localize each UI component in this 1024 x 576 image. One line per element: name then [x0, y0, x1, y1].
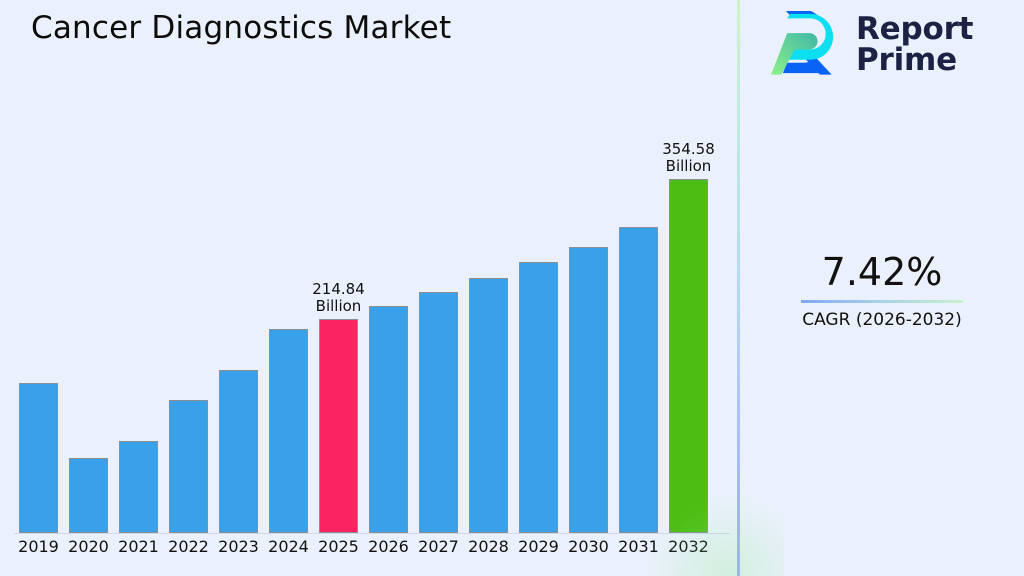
side-panel: Report Prime 7.42% CAGR (2026-2032): [740, 0, 1024, 576]
bar-value-label-2025: 214.84Billion: [312, 281, 365, 315]
brand-logo-line2: Prime: [856, 45, 973, 76]
bar-2025[interactable]: [319, 319, 358, 533]
bar-2029[interactable]: [519, 262, 558, 533]
report-prime-logo-icon: [768, 8, 842, 82]
x-tick-2030: 2030: [561, 537, 616, 556]
bar-2028[interactable]: [469, 278, 508, 533]
bar-2030[interactable]: [569, 247, 608, 533]
bar-2019[interactable]: [19, 383, 58, 533]
brand-logo-line1: Report: [856, 14, 973, 45]
x-tick-2019: 2019: [11, 537, 66, 556]
bar-2032[interactable]: [669, 179, 708, 533]
page-title: Cancer Diagnostics Market: [31, 10, 451, 46]
bar-value-label-amount: 354.58: [662, 141, 715, 158]
bar-2021[interactable]: [119, 441, 158, 533]
x-tick-2021: 2021: [111, 537, 166, 556]
x-tick-2025: 2025: [311, 537, 366, 556]
bar-2026[interactable]: [369, 306, 408, 533]
x-tick-2028: 2028: [461, 537, 516, 556]
cagr-block: 7.42% CAGR (2026-2032): [740, 250, 1024, 330]
x-tick-2020: 2020: [61, 537, 116, 556]
chart-panel: Cancer Diagnostics Market 214.84Billion3…: [0, 0, 738, 576]
bar-2023[interactable]: [219, 370, 258, 533]
brand-logo: Report Prime: [768, 8, 973, 82]
bar-2024[interactable]: [269, 329, 308, 533]
bar-value-label-unit: Billion: [662, 158, 715, 175]
bar-2027[interactable]: [419, 292, 458, 533]
cagr-value: 7.42%: [740, 250, 1024, 294]
chart-page: Cancer Diagnostics Market 214.84Billion3…: [0, 0, 1024, 576]
x-tick-2024: 2024: [261, 537, 316, 556]
bar-chart-plot-area: 214.84Billion354.58Billion: [0, 120, 730, 534]
brand-logo-text: Report Prime: [856, 14, 973, 76]
bar-2022[interactable]: [169, 400, 208, 533]
x-tick-2023: 2023: [211, 537, 266, 556]
x-tick-2031: 2031: [611, 537, 666, 556]
cagr-divider: [801, 300, 963, 303]
x-tick-2029: 2029: [511, 537, 566, 556]
x-tick-2022: 2022: [161, 537, 216, 556]
x-tick-2032: 2032: [661, 537, 716, 556]
x-tick-2026: 2026: [361, 537, 416, 556]
x-axis-tick-labels: 2019202020212022202320242025202620272028…: [0, 534, 730, 564]
bar-value-label-2032: 354.58Billion: [662, 141, 715, 175]
x-tick-2027: 2027: [411, 537, 466, 556]
bar-2031[interactable]: [619, 227, 658, 533]
cagr-caption: CAGR (2026-2032): [740, 310, 1024, 330]
bar-value-label-amount: 214.84: [312, 281, 365, 298]
bar-value-label-unit: Billion: [312, 298, 365, 315]
bar-2020[interactable]: [69, 458, 108, 533]
